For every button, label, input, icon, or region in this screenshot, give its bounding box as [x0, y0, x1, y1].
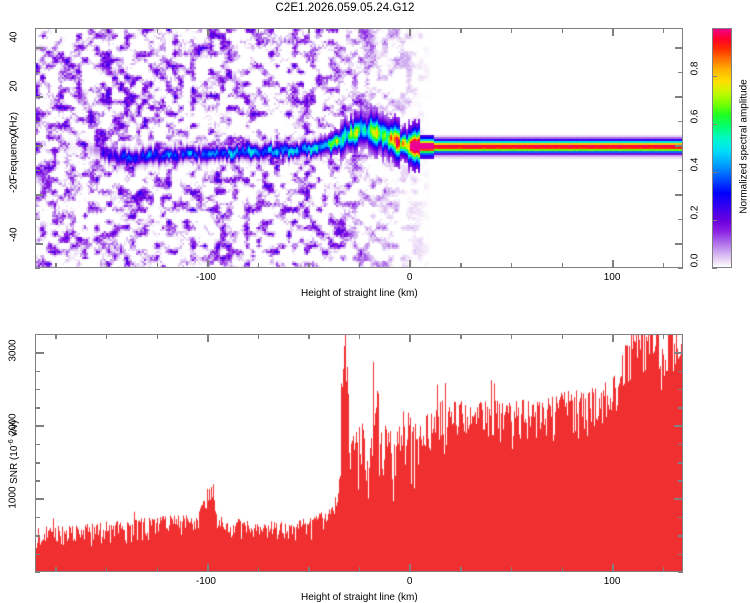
tick-mark	[35, 268, 40, 269]
tick-mark	[675, 194, 683, 196]
tick-mark	[674, 352, 683, 354]
tick-mark	[674, 425, 683, 427]
tick-mark	[678, 219, 683, 220]
tick-mark	[675, 47, 683, 49]
tick-mark	[663, 263, 664, 268]
spectrogram-xaxis-label: Height of straight line (km)	[301, 288, 418, 299]
tick-mark	[35, 334, 40, 335]
tick-mark	[35, 243, 43, 245]
tick-mark	[207, 260, 209, 268]
tick-mark	[612, 334, 614, 342]
spectrogram-xtick-0: 0	[407, 272, 413, 283]
tick-mark	[562, 334, 563, 339]
tick-mark	[678, 572, 683, 573]
tick-mark	[678, 480, 683, 481]
tick-mark	[663, 28, 664, 33]
snr-xtick-0: 0	[407, 576, 413, 587]
tick-mark	[712, 76, 717, 78]
tick-mark	[106, 263, 107, 268]
tick-mark	[35, 194, 43, 196]
tick-mark	[678, 554, 683, 555]
tick-mark	[308, 28, 309, 33]
tick-mark	[35, 170, 40, 171]
tick-mark	[359, 263, 360, 268]
tick-mark	[409, 564, 411, 572]
tick-mark	[663, 334, 664, 339]
tick-mark	[106, 334, 107, 339]
tick-mark	[35, 407, 40, 408]
tick-mark	[207, 564, 209, 572]
spectrogram-plot-area	[35, 28, 683, 268]
figure-root: C2E1.2026.059.05.24.G12 -100010040200-20…	[0, 0, 750, 600]
tick-mark	[511, 334, 512, 339]
colorbar-gradient	[713, 29, 731, 267]
snr-xaxis-label: Height of straight line (km)	[301, 592, 418, 603]
tick-mark	[55, 28, 56, 33]
tick-mark	[258, 28, 259, 33]
tick-mark	[35, 517, 40, 518]
tick-mark	[35, 352, 44, 354]
tick-mark	[460, 567, 461, 572]
snr-xtick--100: -100	[196, 576, 216, 587]
tick-mark	[55, 334, 56, 339]
tick-mark	[35, 121, 40, 122]
colorbar-tick-0.8: 0.8	[690, 62, 701, 88]
tick-mark	[562, 567, 563, 572]
tick-mark	[35, 572, 40, 573]
tick-mark	[678, 121, 683, 122]
tick-mark	[258, 263, 259, 268]
tick-mark	[678, 72, 683, 73]
tick-mark	[675, 145, 683, 147]
tick-mark	[511, 28, 512, 33]
tick-mark	[678, 268, 683, 269]
tick-mark	[35, 498, 44, 500]
tick-mark	[157, 567, 158, 572]
tick-mark	[35, 47, 43, 49]
spectrogram-yaxis-label: Frequency (Hz)	[9, 102, 20, 192]
snr-ylabel-exponent: -6	[8, 439, 15, 445]
tick-mark	[460, 28, 461, 33]
tick-mark	[712, 172, 717, 174]
tick-mark	[35, 535, 40, 536]
tick-mark	[678, 170, 683, 171]
tick-mark	[35, 425, 44, 427]
tick-mark	[207, 28, 209, 36]
colorbar-tick-0.6: 0.6	[690, 110, 701, 136]
tick-mark	[35, 554, 40, 555]
tick-mark	[712, 124, 717, 126]
snr-ylabel-suffix: v/v)	[9, 420, 20, 439]
tick-mark	[35, 72, 40, 73]
snr-xtick-100: 100	[604, 576, 621, 587]
tick-mark	[460, 334, 461, 339]
tick-mark	[678, 334, 683, 335]
tick-mark	[678, 517, 683, 518]
tick-mark	[359, 334, 360, 339]
tick-mark	[562, 263, 563, 268]
tick-mark	[460, 263, 461, 268]
tick-mark	[258, 567, 259, 572]
tick-mark	[562, 28, 563, 33]
tick-mark	[359, 28, 360, 33]
spectrogram-xtick-100: 100	[604, 272, 621, 283]
tick-mark	[35, 444, 40, 445]
tick-mark	[308, 263, 309, 268]
tick-mark	[675, 96, 683, 98]
tick-mark	[409, 28, 411, 36]
tick-mark	[106, 567, 107, 572]
tick-mark	[35, 462, 40, 463]
tick-mark	[35, 96, 43, 98]
tick-mark	[678, 371, 683, 372]
snr-ytick-3000: 3000	[8, 331, 19, 371]
spectrogram-ytick--40: -40	[9, 227, 20, 257]
tick-mark	[678, 535, 683, 536]
tick-mark	[511, 567, 512, 572]
tick-mark	[675, 243, 683, 245]
snr-yaxis-label: SNR (10-6 v/v)	[8, 397, 20, 507]
tick-mark	[678, 389, 683, 390]
tick-mark	[712, 268, 717, 270]
tick-mark	[409, 260, 411, 268]
tick-mark	[612, 564, 614, 572]
spectrogram-xtick--100: -100	[196, 272, 216, 283]
tick-mark	[308, 567, 309, 572]
snr-plot-area	[35, 334, 683, 572]
tick-mark	[207, 334, 209, 342]
tick-mark	[35, 219, 40, 220]
tick-mark	[612, 260, 614, 268]
tick-mark	[612, 28, 614, 36]
tick-mark	[35, 389, 40, 390]
tick-mark	[106, 28, 107, 33]
tick-mark	[35, 371, 40, 372]
colorbar-scale	[712, 28, 732, 268]
tick-mark	[308, 334, 309, 339]
tick-mark	[678, 462, 683, 463]
colorbar-tick-0.4: 0.4	[690, 158, 701, 184]
colorbar-tick-0.0: 0.0	[690, 254, 701, 280]
tick-mark	[157, 263, 158, 268]
tick-mark	[674, 498, 683, 500]
tick-mark	[157, 28, 158, 33]
snr-trace	[36, 335, 683, 572]
tick-mark	[409, 334, 411, 342]
spectrogram-ytick-40: 40	[9, 31, 20, 61]
figure-title: C2E1.2026.059.05.24.G12	[0, 2, 690, 14]
tick-mark	[35, 145, 43, 147]
tick-mark	[157, 334, 158, 339]
tick-mark	[678, 444, 683, 445]
tick-mark	[359, 567, 360, 572]
tick-mark	[258, 334, 259, 339]
tick-mark	[678, 407, 683, 408]
tick-mark	[55, 567, 56, 572]
tick-mark	[663, 567, 664, 572]
snr-ylabel-prefix: SNR (10	[9, 446, 20, 484]
colorbar-tick-0.2: 0.2	[690, 206, 701, 232]
tick-mark	[511, 263, 512, 268]
colorbar-label: Normalized spectral amplitude	[739, 27, 750, 267]
tick-mark	[712, 220, 717, 222]
spectrogram-image	[36, 29, 683, 268]
tick-mark	[55, 263, 56, 268]
tick-mark	[35, 480, 40, 481]
